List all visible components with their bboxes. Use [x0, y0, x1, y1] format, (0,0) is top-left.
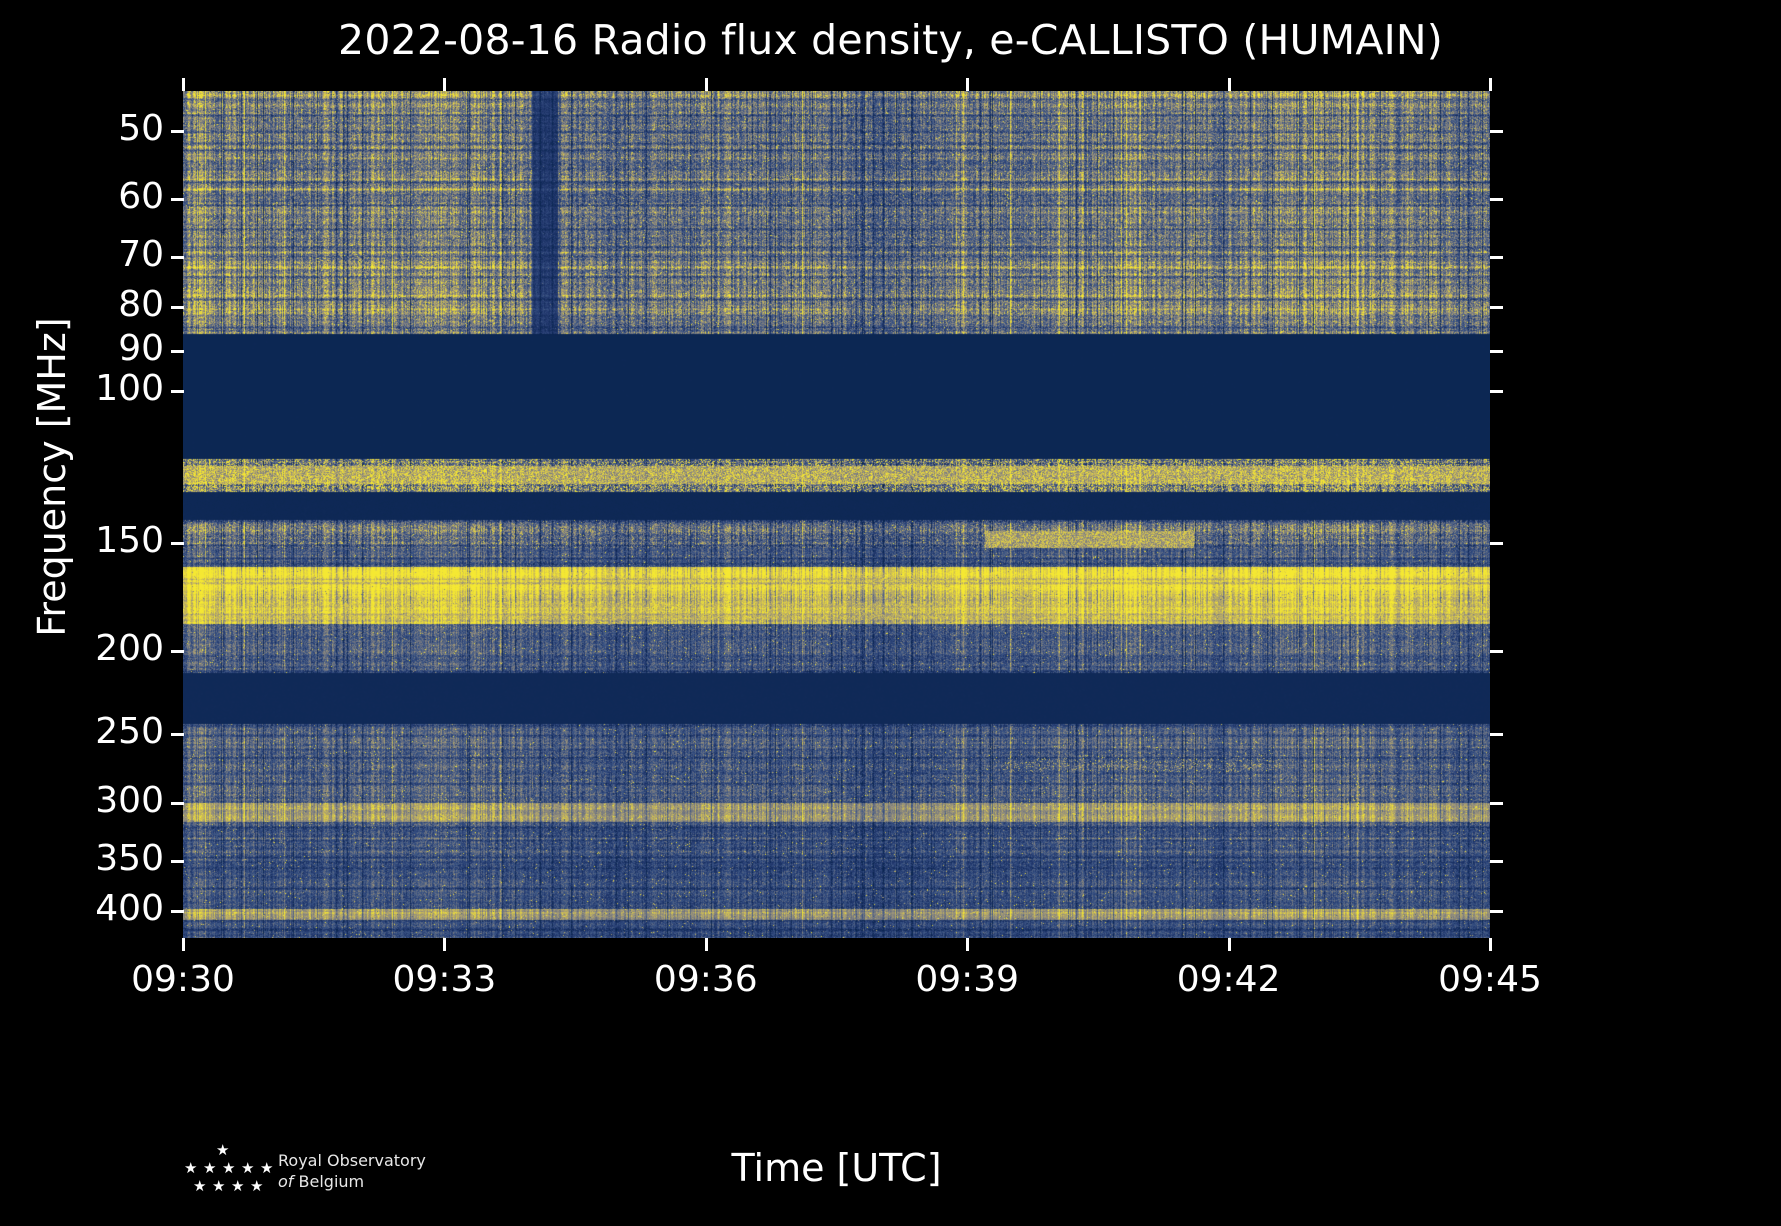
- page-title: 2022-08-16 Radio flux density, e-CALLIST…: [0, 16, 1781, 64]
- star-icon: ★: [184, 1161, 197, 1176]
- x-tick-label-1: 09:33: [393, 960, 497, 1000]
- y-tick-mark-200: [171, 650, 184, 653]
- spectrogram-heatmap: [183, 91, 1490, 938]
- y-tick-label-400: 400: [95, 891, 164, 927]
- y-tick-mark-350: [171, 860, 184, 863]
- x-tick-mark-2: [705, 938, 708, 951]
- y-tick-mark-400: [171, 910, 184, 913]
- y-tick-mark-70: [171, 256, 184, 259]
- y-tick-label-50: 50: [118, 111, 164, 147]
- y-tick-mark-right-400: [1490, 910, 1503, 913]
- star-icon: ★: [193, 1179, 206, 1194]
- x-tick-label-0: 09:30: [131, 960, 235, 1000]
- y-tick-label-90: 90: [118, 331, 164, 367]
- y-tick-mark-250: [171, 733, 184, 736]
- x-tick-mark-top-5: [1489, 78, 1492, 91]
- x-tick-mark-top-0: [182, 78, 185, 91]
- y-tick-label-250: 250: [95, 714, 164, 750]
- y-tick-label-80: 80: [118, 287, 164, 323]
- y-tick-mark-right-200: [1490, 650, 1503, 653]
- logo-text: Royal Observatory of Belgium: [278, 1151, 578, 1192]
- royal-observatory-logo: ★★★★★★★★★★ Royal Observatory of Belgium: [178, 1143, 598, 1215]
- y-tick-mark-right-350: [1490, 860, 1503, 863]
- spectrogram-figure: 2022-08-16 Radio flux density, e-CALLIST…: [0, 0, 1781, 1226]
- y-tick-mark-90: [171, 350, 184, 353]
- star-icon: ★: [222, 1161, 235, 1176]
- y-tick-label-100: 100: [95, 371, 164, 407]
- y-tick-mark-right-70: [1490, 256, 1503, 259]
- star-icon: ★: [241, 1161, 254, 1176]
- x-tick-label-3: 09:39: [915, 960, 1019, 1000]
- y-tick-mark-right-250: [1490, 733, 1503, 736]
- y-tick-mark-100: [171, 390, 184, 393]
- y-tick-mark-60: [171, 198, 184, 201]
- x-tick-mark-top-1: [443, 78, 446, 91]
- x-tick-mark-top-2: [705, 78, 708, 91]
- x-tick-mark-top-4: [1228, 78, 1231, 91]
- y-tick-mark-300: [171, 802, 184, 805]
- x-tick-label-5: 09:45: [1438, 960, 1542, 1000]
- y-tick-mark-150: [171, 542, 184, 545]
- x-tick-label-4: 09:42: [1177, 960, 1281, 1000]
- y-tick-mark-50: [171, 130, 184, 133]
- y-tick-mark-right-50: [1490, 130, 1503, 133]
- x-tick-mark-top-3: [966, 78, 969, 91]
- y-axis-label: Frequency [MHz]: [30, 197, 74, 757]
- x-tick-mark-3: [966, 938, 969, 951]
- y-tick-label-60: 60: [118, 179, 164, 215]
- eu-stars-icon: ★★★★★★★★★★: [178, 1143, 274, 1205]
- y-tick-label-300: 300: [95, 783, 164, 819]
- y-tick-label-70: 70: [118, 237, 164, 273]
- x-tick-mark-4: [1228, 938, 1231, 951]
- star-icon: ★: [203, 1161, 216, 1176]
- star-icon: ★: [212, 1179, 225, 1194]
- y-tick-mark-right-150: [1490, 542, 1503, 545]
- logo-country: Belgium: [299, 1172, 365, 1191]
- x-tick-mark-1: [443, 938, 446, 951]
- logo-of-word: of: [278, 1172, 293, 1191]
- star-icon: ★: [231, 1179, 244, 1194]
- y-tick-mark-right-90: [1490, 350, 1503, 353]
- x-tick-mark-0: [182, 938, 185, 951]
- spectrogram-plot-area: [183, 91, 1490, 938]
- y-tick-mark-right-300: [1490, 802, 1503, 805]
- x-tick-mark-5: [1489, 938, 1492, 951]
- star-icon: ★: [216, 1143, 229, 1158]
- y-tick-label-200: 200: [95, 631, 164, 667]
- y-tick-mark-right-80: [1490, 306, 1503, 309]
- y-tick-label-350: 350: [95, 841, 164, 877]
- star-icon: ★: [250, 1179, 263, 1194]
- y-tick-mark-right-100: [1490, 390, 1503, 393]
- y-tick-mark-80: [171, 306, 184, 309]
- star-icon: ★: [260, 1161, 273, 1176]
- y-tick-label-150: 150: [95, 523, 164, 559]
- x-tick-label-2: 09:36: [654, 960, 758, 1000]
- logo-line-1: Royal Observatory: [278, 1151, 578, 1171]
- logo-line-2: of Belgium: [278, 1171, 578, 1192]
- y-tick-mark-right-60: [1490, 198, 1503, 201]
